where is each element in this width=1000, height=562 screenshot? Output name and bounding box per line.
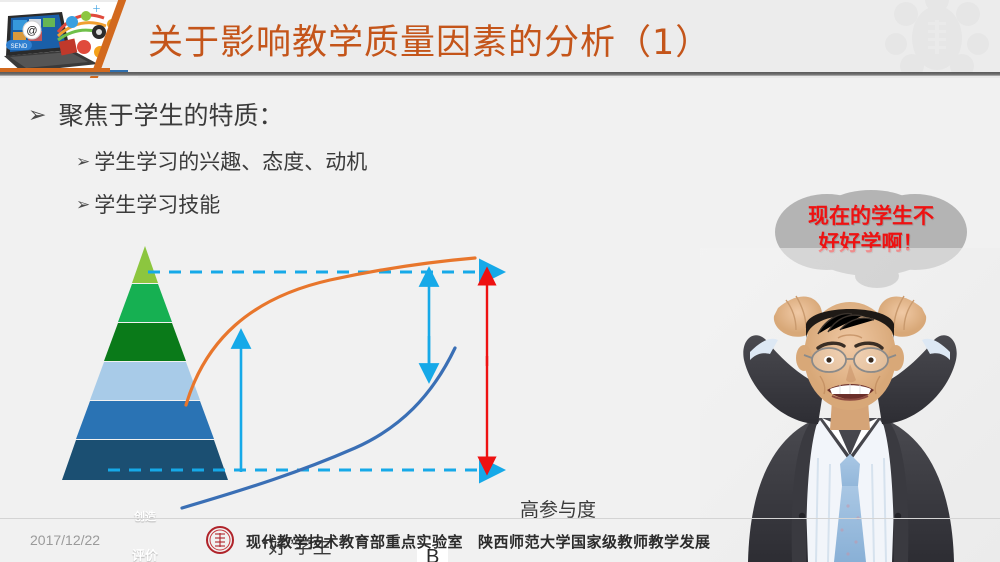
frustrated-businessman-image — [700, 248, 1000, 562]
header-divider — [0, 72, 1000, 76]
footer-date: 2017/12/22 — [30, 532, 100, 548]
bullet-level2-item: ➢ 学生学习技能 — [76, 191, 648, 220]
university-seal-icon — [206, 526, 234, 554]
bullet-level1-label: 聚焦于学生的特质： — [58, 100, 283, 132]
bullet-marker-icon: ➢ — [28, 100, 46, 130]
slide-footer: 2017/12/22 现代教学技术教育部重点实验室 陕西师范大学国家级教师教学发… — [0, 518, 1000, 562]
footer-lab-name: 现代教学技术教育部重点实验室 — [246, 531, 463, 552]
bullet-marker-icon: ➢ — [76, 191, 90, 219]
svg-text:SEND: SEND — [11, 44, 28, 50]
bullet-marker-icon: ➢ — [76, 148, 90, 176]
engagement-chart: 创造 评价 分析 应用 理解 记忆/回忆 “好”学生 “差”学生 A B 教学活… — [0, 236, 720, 526]
footer-org-name: 陕西师范大学国家级教师教学发展 — [478, 531, 711, 552]
university-seal-watermark-icon — [882, 0, 992, 76]
svg-text:@: @ — [26, 25, 37, 37]
bullet-level1: ➢ 聚焦于学生的特质： — [28, 100, 648, 132]
bullet-level2-item: ➢ 学生学习的兴趣、态度、动机 — [76, 148, 648, 177]
bullet-level2-label: 学生学习的兴趣、态度、动机 — [94, 148, 367, 177]
svg-text:＋: ＋ — [92, 4, 101, 14]
slide-canvas: SEND @ — [0, 0, 1000, 562]
slide-header: SEND @ — [0, 0, 1000, 78]
speech-bubble-line1: 现在的学生不 — [765, 203, 977, 230]
footer-divider — [0, 518, 1000, 519]
page-title: 关于影响教学质量因素的分析（1） — [148, 14, 711, 65]
bullet-list: ➢ 聚焦于学生的特质： ➢ 学生学习的兴趣、态度、动机 ➢ 学生学习技能 — [28, 100, 648, 234]
bullet-level2-label: 学生学习技能 — [94, 191, 220, 220]
